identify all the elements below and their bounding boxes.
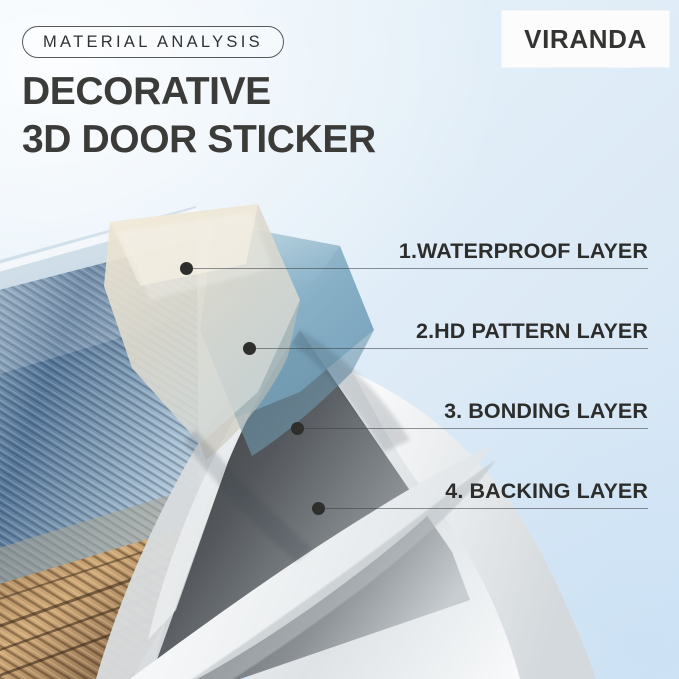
callout-leader-line (249, 348, 648, 349)
callout-dot-icon (180, 262, 193, 275)
product-infographic: MATERIAL ANALYSIS DECORATIVE 3D DOOR STI… (0, 0, 679, 679)
callout-dot-icon (243, 342, 256, 355)
callout-leader-line (318, 508, 648, 509)
page-title: DECORATIVE 3D DOOR STICKER (22, 68, 376, 164)
brand-logo-label: VIRANDA (524, 24, 647, 55)
page-title-line-1: DECORATIVE (22, 70, 271, 113)
callout-label: 3. BONDING LAYER (444, 399, 648, 424)
page-title-line-2: 3D DOOR STICKER (22, 116, 376, 164)
callout-leader-line (297, 428, 648, 429)
callout-leader-line (186, 268, 648, 269)
callout-dot-icon (312, 502, 325, 515)
brand-logo: VIRANDA (502, 11, 669, 67)
callout-label: 2.HD PATTERN LAYER (416, 319, 648, 344)
eyebrow-badge-label: MATERIAL ANALYSIS (43, 33, 263, 52)
callout-dot-icon (291, 422, 304, 435)
callout-label: 1.WATERPROOF LAYER (399, 239, 648, 264)
callout-label: 4. BACKING LAYER (445, 479, 648, 504)
eyebrow-badge: MATERIAL ANALYSIS (22, 26, 284, 58)
